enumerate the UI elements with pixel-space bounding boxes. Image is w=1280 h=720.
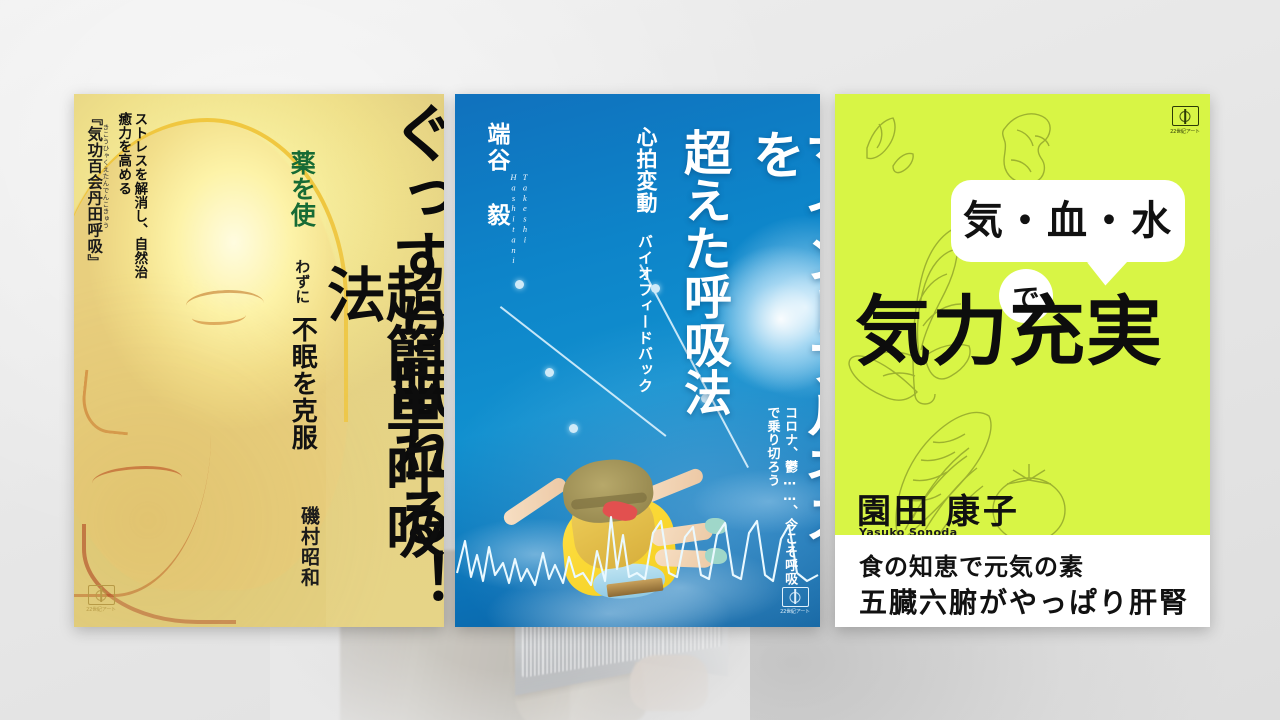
rope-bead [545, 368, 554, 377]
cover1-lead-text: ストレスを解消し、自然治癒力を高める [115, 112, 147, 288]
cover3-band-line2: 五臓六腑がやっぱり肝腎 [859, 581, 1189, 621]
book-cover-2[interactable]: 端谷 毅 Takeshi Hashitani 心拍変動 バイオフィードバック コ… [455, 94, 820, 627]
cover2-author-english: Takeshi Hashitani [507, 172, 530, 216]
cover1-subtitle-small: わずに [294, 259, 310, 321]
garlic-illustration [849, 104, 969, 194]
open-book-logo-icon [88, 585, 115, 605]
rope-bead [569, 424, 578, 433]
cover2-subtitle-sub: バイオフィードバック [635, 234, 656, 394]
cover1-author: 磯村昭和 [296, 506, 323, 618]
cover2-title-line1: 超えた呼吸法 [679, 128, 727, 440]
speech-bubble: 気・血・水 [951, 180, 1185, 262]
cover1-subtitle-black: 不眠を克服 [288, 316, 315, 488]
cover1-subtitle-green: 薬を使 [288, 150, 314, 262]
publisher-logo-cover3: 22世紀アート [1170, 106, 1200, 135]
screenshot-stage: 『気功百会丹田呼吸』 きこうひゃくえたんでんこきゅう ストレスを解消し、自然治癒… [0, 0, 1280, 720]
publisher-name: 22世紀アート [780, 608, 810, 615]
cover2-subtitle-main: 心拍変動 [631, 126, 661, 236]
book-cover-3[interactable]: 気・血・水 で 気力充実 園田 康子 Yasuko Sonoda 食の知恵で元気… [835, 94, 1210, 627]
publisher-name: 22世紀アート [1170, 128, 1200, 135]
open-book-logo-icon [1172, 106, 1199, 126]
rope-bead [515, 280, 524, 289]
cover3-speech-text: 気・血・水 [963, 201, 1173, 241]
book-cover-1[interactable]: 『気功百会丹田呼吸』 きこうひゃくえたんでんこきゅう ストレスを解消し、自然治癒… [74, 94, 444, 627]
cover1-title-line2: 超簡単呼吸法 [322, 264, 440, 614]
publisher-logo-cover2: 22世紀アート [780, 587, 810, 616]
cover2-title-line2: マインドフルネスを [747, 128, 820, 576]
cover3-title: 気力充実 [855, 294, 1207, 370]
cover3-band-line1: 食の知恵で元気の素 [859, 547, 1084, 582]
publisher-logo-cover1: 22世紀アート [86, 585, 116, 614]
cover3-obi-band: 食の知恵で元気の素 五臓六腑がやっぱり肝腎 [835, 535, 1210, 627]
open-book-logo-icon [782, 587, 809, 607]
publisher-name: 22世紀アート [86, 606, 116, 613]
cover1-band-rubi: きこうひゃくえたんでんこきゅう [100, 124, 110, 248]
